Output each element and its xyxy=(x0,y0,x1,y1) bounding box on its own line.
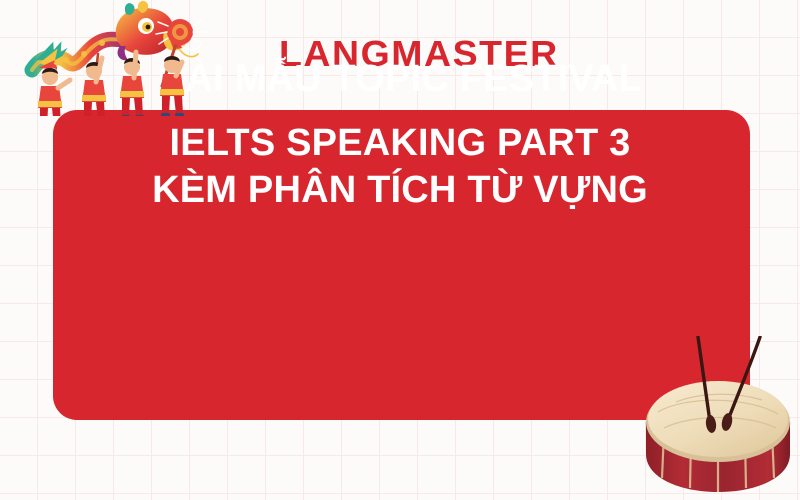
festival-drum-illustration xyxy=(636,336,800,500)
banner-canvas: LANGMASTER BÀI MẪU TOPIC FESTIVAL IELTS … xyxy=(0,0,800,500)
dragon-dance-illustration xyxy=(14,0,226,116)
headline-line-3: KÈM PHÂN TÍCH TỪ VỰNG xyxy=(0,169,800,212)
headline-line-2: IELTS SPEAKING PART 3 xyxy=(0,122,800,165)
